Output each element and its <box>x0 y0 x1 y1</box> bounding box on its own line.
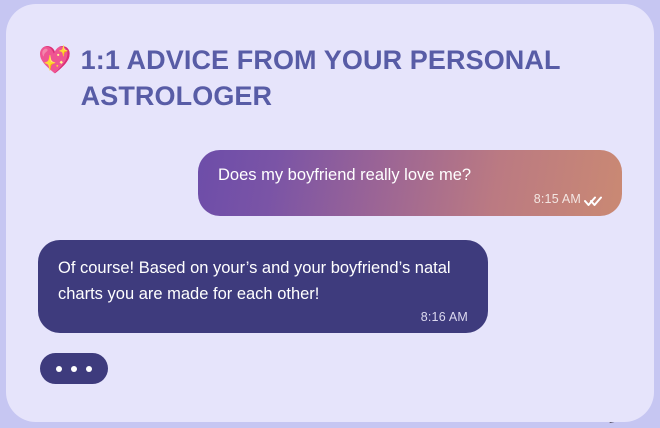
double-check-icon <box>584 194 602 206</box>
message-timestamp: 8:16 AM <box>421 310 468 324</box>
screen-root: 💖 1:1 ADVICE FROM YOUR PERSONAL ASTROLOG… <box>0 0 660 428</box>
typing-dot <box>56 366 62 372</box>
typing-dot <box>71 366 77 372</box>
sparkling-heart-icon: 💖 <box>38 43 72 77</box>
message-timestamp: 8:15 AM <box>534 192 581 206</box>
message-meta: 8:15 AM <box>218 192 602 206</box>
message-bubble-outgoing[interactable]: Does my boyfriend really love me? 8:15 A… <box>198 150 622 216</box>
message-text: Does my boyfriend really love me? <box>218 164 602 186</box>
message-bubble-incoming[interactable]: Of course! Based on your’s and your boyf… <box>38 240 488 333</box>
chat-card: 💖 1:1 ADVICE FROM YOUR PERSONAL ASTROLOG… <box>6 4 654 422</box>
message-text: Of course! Based on your’s and your boyf… <box>58 255 468 307</box>
typing-dot <box>86 366 92 372</box>
page-title: 1:1 ADVICE FROM YOUR PERSONAL ASTROLOGER <box>81 42 581 114</box>
header-row: 💖 1:1 ADVICE FROM YOUR PERSONAL ASTROLOG… <box>38 42 614 114</box>
header: 💖 1:1 ADVICE FROM YOUR PERSONAL ASTROLOG… <box>38 42 614 114</box>
message-meta: 8:16 AM <box>58 310 468 324</box>
typing-indicator <box>40 353 108 384</box>
